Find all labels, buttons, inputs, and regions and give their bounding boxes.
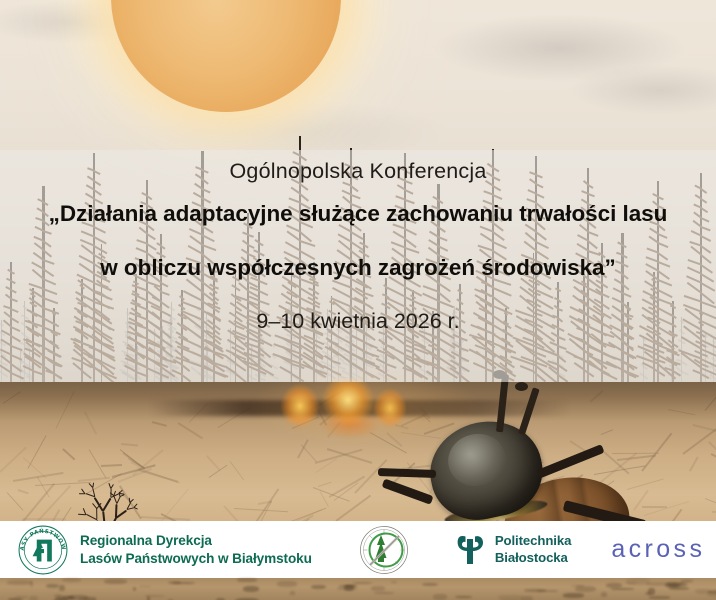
shrub-twig — [116, 509, 128, 518]
shrub-twig — [134, 507, 138, 510]
poster-title-line-2: w obliczu współczesnych zagrożeń środowi… — [100, 255, 615, 281]
ground-speckle — [626, 582, 636, 584]
ground-crack — [84, 411, 97, 434]
ground-speckle — [237, 578, 257, 582]
shrub-twig — [116, 496, 121, 504]
ground-speckle — [611, 588, 634, 590]
ground-crack — [6, 492, 23, 511]
shrub-twig — [96, 508, 97, 520]
across-wordmark: across — [611, 535, 705, 564]
ground-speckle — [668, 584, 678, 586]
ground-speckle — [277, 581, 298, 586]
ground-speckle — [139, 586, 151, 588]
ground-crack — [151, 421, 166, 427]
ground-speckle — [311, 585, 326, 590]
ground-speckle — [521, 596, 533, 600]
ground-speckle — [371, 586, 385, 590]
ground-crack — [62, 448, 75, 460]
ground-crack — [229, 462, 244, 481]
ground-speckle — [455, 596, 472, 598]
ground-speckle — [144, 595, 165, 598]
ground-speckle — [59, 585, 64, 591]
shrub-twig — [120, 494, 125, 497]
ground-crack — [0, 446, 27, 472]
logo-lasy-panstwowe: LASY PAŃSTWOWE · · · · · · · · · · · · R… — [17, 521, 312, 578]
ground-speckle — [433, 594, 447, 600]
ground-speckle — [30, 581, 33, 587]
ground-speckle — [601, 592, 607, 596]
ground-speckle — [649, 596, 670, 598]
shrub-twig — [102, 498, 112, 512]
politechnika-label: Politechnika Białostocka — [495, 533, 571, 566]
ground-crack — [18, 489, 29, 494]
ground-speckle — [391, 581, 398, 583]
logo-politechnika-bialostocka: Politechnika Białostocka — [456, 521, 571, 578]
ground-crack — [28, 435, 47, 469]
poster-text-block: Ogólnopolska Konferencja „Działania adap… — [0, 150, 716, 382]
ground-crack — [318, 482, 332, 487]
ground-crack — [3, 391, 21, 404]
ground-speckle — [679, 582, 684, 584]
ground-speckle — [646, 582, 670, 586]
ground-speckle — [62, 578, 81, 582]
poster-title-line-1: „Działania adaptacyjne służące zachowani… — [49, 201, 668, 227]
ground-speckle — [29, 596, 38, 600]
ground-crack — [55, 391, 74, 429]
ground-speckle — [575, 586, 597, 592]
lasy-line-1: Regionalna Dyrekcja — [80, 532, 312, 549]
politechnika-line-2: Białostocka — [495, 550, 571, 566]
shrub-twig — [92, 483, 94, 489]
beetle-leg — [536, 444, 604, 479]
ground-crack — [313, 487, 350, 502]
ground-crack — [207, 456, 221, 471]
ground-speckle — [695, 589, 711, 594]
ground-speckle — [563, 593, 584, 598]
lasy-line-2: Lasów Państwowych w Białymstoku — [80, 550, 312, 567]
bottom-ground-strip — [0, 578, 716, 600]
ground-speckle — [344, 585, 357, 587]
poster-date: 9–10 kwietnia 2026 r. — [256, 309, 459, 334]
shrub-twig — [111, 484, 115, 489]
ground-speckle — [337, 587, 356, 590]
politechnika-line-1: Politechnika — [495, 533, 571, 549]
logo-across: across — [611, 521, 705, 578]
beetle-antenna-club — [515, 382, 528, 391]
conference-poster: Ogólnopolska Konferencja „Działania adap… — [0, 0, 716, 600]
ground-speckle — [524, 589, 546, 592]
ground-speckle — [104, 579, 128, 584]
ground-speckle — [290, 591, 296, 595]
ground-speckle — [422, 583, 439, 586]
ground-speckle — [7, 580, 31, 585]
lasy-panstwowe-label: Regionalna Dyrekcja Lasów Państwowych w … — [80, 532, 312, 567]
ground-speckle — [374, 592, 394, 594]
ground-speckle — [243, 586, 260, 592]
ground-speckle — [133, 587, 136, 591]
politechnika-monogram-icon — [456, 534, 486, 566]
lasy-panstwowe-emblem-icon: LASY PAŃSTWOWE · · · · · · · · · · · · — [17, 524, 69, 576]
logo-forest-emblem — [359, 521, 409, 578]
ground-speckle — [648, 588, 654, 594]
ground-speckle — [498, 595, 522, 598]
ground-speckle — [669, 587, 689, 590]
ground-speckle — [46, 584, 59, 588]
ground-crack — [589, 391, 603, 403]
ground-crack — [120, 443, 138, 447]
forest-research-emblem-icon — [359, 525, 409, 575]
ground-crack — [22, 518, 66, 520]
logo-bar: LASY PAŃSTWOWE · · · · · · · · · · · · R… — [0, 521, 716, 578]
ground-speckle — [352, 582, 372, 584]
poster-headline: Ogólnopolska Konferencja — [230, 159, 487, 184]
